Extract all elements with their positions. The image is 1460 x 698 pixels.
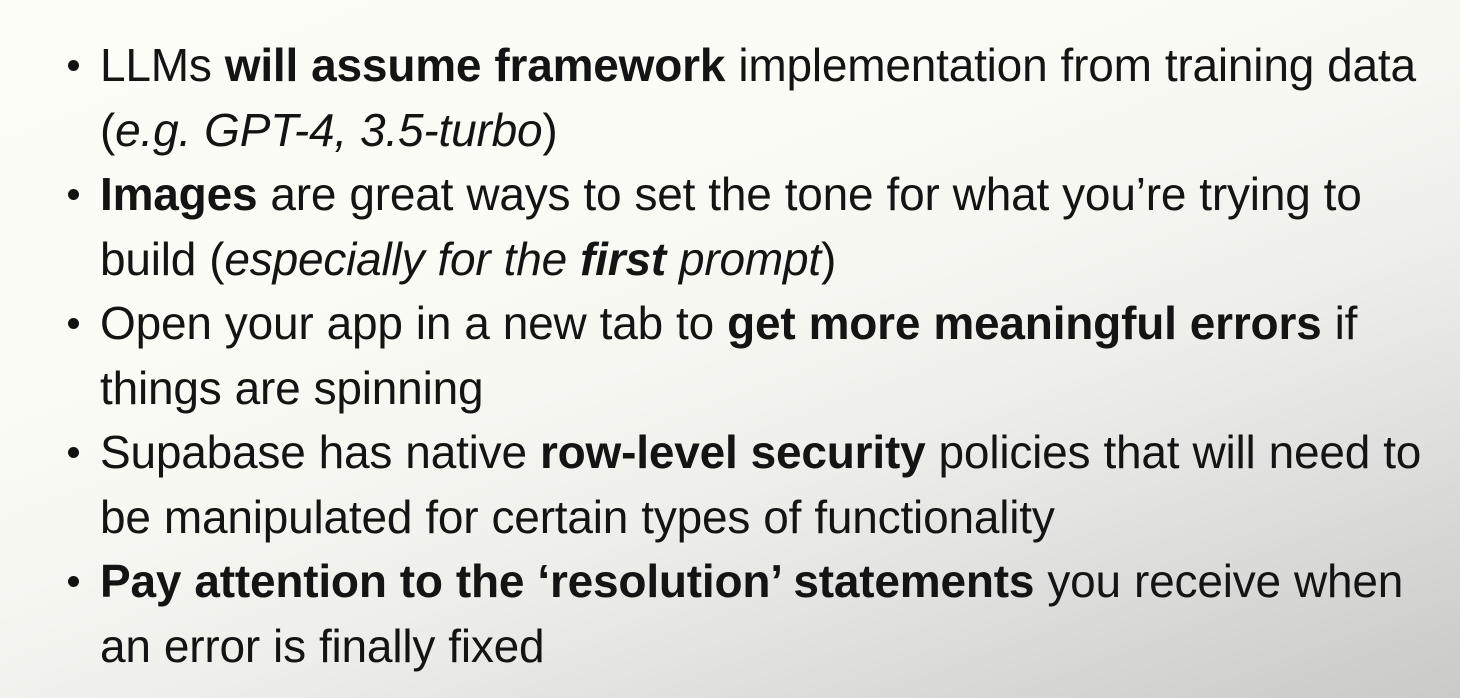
bullet-list: LLMs will assume framework implementatio…	[0, 33, 1460, 678]
bullet-item: Pay attention to the ‘resolution’ statem…	[0, 549, 1460, 678]
text-run-bold: will assume framework	[225, 39, 725, 91]
text-run-bold: get more meaningful errors	[727, 297, 1321, 349]
bullet-text: Open your app in a new tab to get more m…	[100, 291, 1442, 420]
text-run-bold: Images	[100, 168, 257, 220]
bullet-point-icon	[68, 447, 79, 458]
bullet-item: Images are great ways to set the tone fo…	[0, 162, 1460, 291]
bullet-item: Supabase has native row-level security p…	[0, 420, 1460, 549]
text-run-bold: row-level security	[540, 426, 926, 478]
bullet-point-icon	[68, 318, 79, 329]
bullet-text: LLMs will assume framework implementatio…	[100, 33, 1442, 162]
slide-canvas: LLMs will assume framework implementatio…	[0, 0, 1460, 698]
bullet-item: LLMs will assume framework implementatio…	[0, 33, 1460, 162]
bullet-text: Supabase has native row-level security p…	[100, 420, 1442, 549]
bullet-point-icon	[68, 189, 79, 200]
text-run-normal: )	[542, 104, 557, 156]
text-run-normal: LLMs	[100, 39, 225, 91]
text-run-italic: prompt	[666, 233, 821, 285]
bullet-point-icon	[68, 60, 79, 71]
bullet-text: Images are great ways to set the tone fo…	[100, 162, 1442, 291]
text-run-normal: )	[821, 233, 836, 285]
bullet-item: Open your app in a new tab to get more m…	[0, 291, 1460, 420]
text-run-normal: Supabase has native	[100, 426, 540, 478]
text-run-italic: e.g. GPT-4, 3.5-turbo	[115, 104, 542, 156]
bullet-point-icon	[68, 576, 79, 587]
text-run-bold: Pay attention to the ‘resolution’ statem…	[100, 555, 1034, 607]
text-run-bold-italic: first	[580, 233, 666, 285]
text-run-italic: especially for the	[224, 233, 580, 285]
text-run-normal: Open your app in a new tab to	[100, 297, 727, 349]
bullet-text: Pay attention to the ‘resolution’ statem…	[100, 549, 1442, 678]
